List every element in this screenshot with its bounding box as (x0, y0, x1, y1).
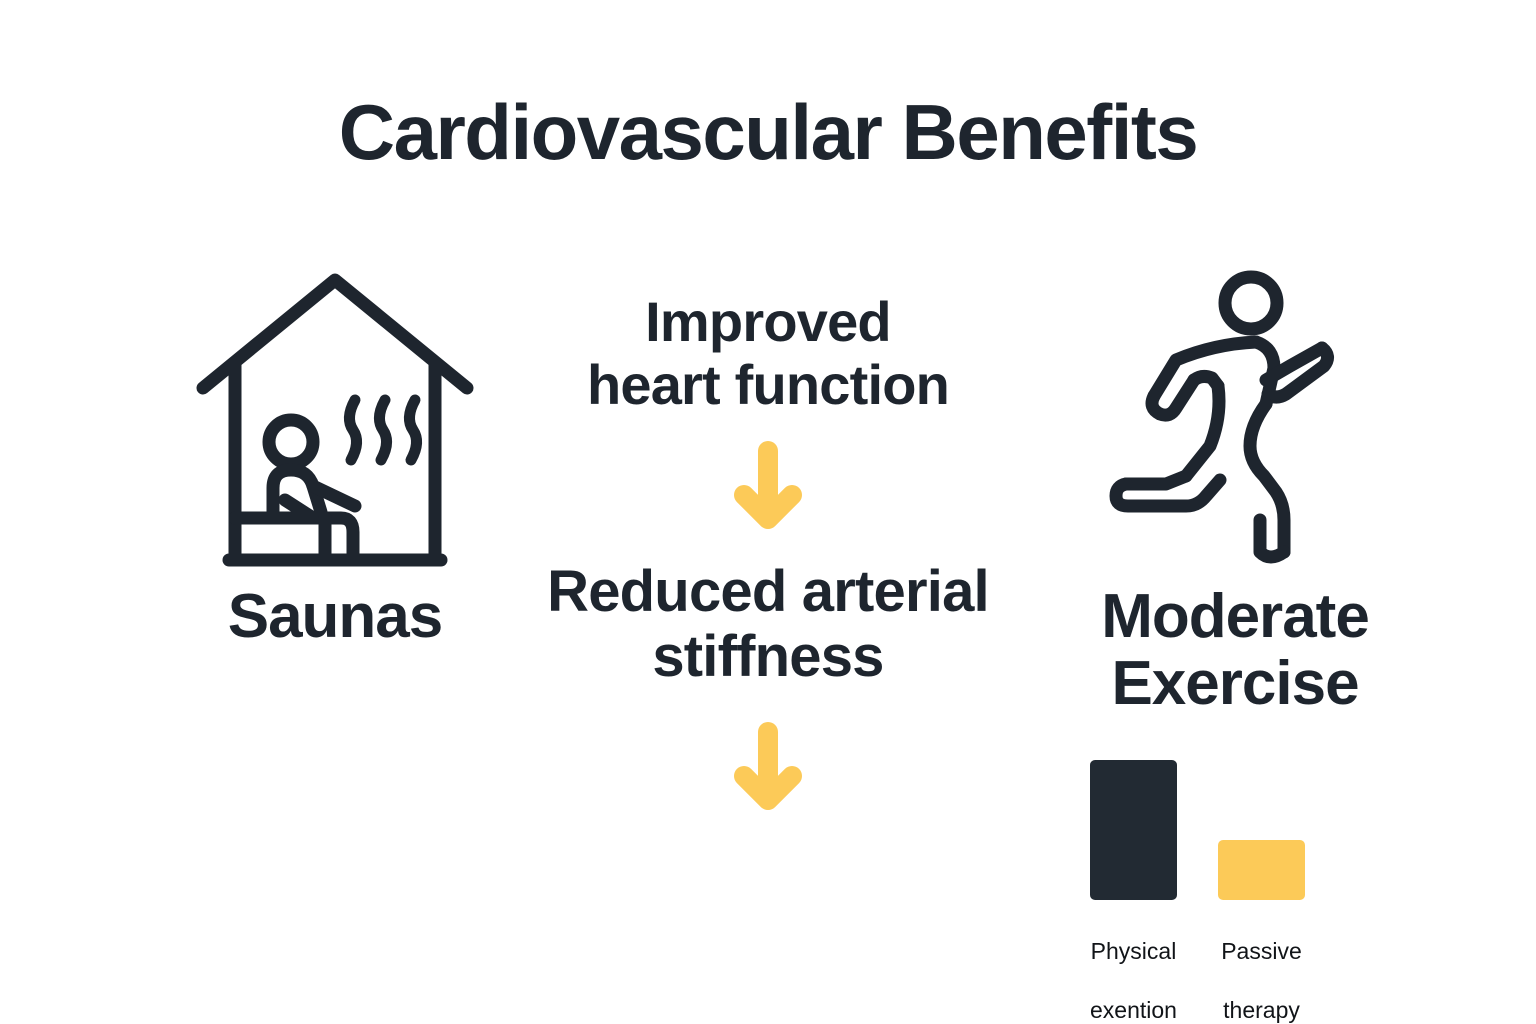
flow-step-2: Reduced arterial stiffness (528, 559, 1008, 690)
label-exercise: Moderate Exercise (1020, 584, 1450, 718)
heat-waves-icon (349, 400, 416, 460)
flow-step-1-line-1: Improved (528, 290, 1008, 353)
exercise-icon-container (1020, 250, 1450, 570)
sauna-icon-container (120, 250, 550, 570)
sauna-house-icon (195, 270, 475, 570)
legend-label-physical-exention: Physical exention (1090, 908, 1177, 1024)
column-saunas: Saunas (120, 250, 550, 651)
down-arrow-icon (733, 720, 803, 816)
label-exercise-line-2: Exercise (1020, 651, 1450, 718)
legend-label-physical-line-2: exention (1090, 996, 1177, 1024)
label-exercise-line-1: Moderate (1020, 584, 1450, 651)
legend-label-physical-line-1: Physical (1090, 937, 1177, 966)
flow-step-1-line-2: heart function (528, 353, 1008, 416)
column-flow: Improved heart function Reduced arterial… (528, 290, 1008, 816)
chart-legend: Physical exention Passive therapy (1060, 908, 1360, 1024)
down-arrow-icon (733, 439, 803, 535)
comparison-bar-chart: Physical exention Passive therapy (1060, 748, 1360, 988)
flow-step-2-line-2: stiffness (528, 624, 1008, 690)
chart-bars (1060, 748, 1360, 900)
legend-label-passive-therapy: Passive therapy (1218, 908, 1305, 1024)
arrow-2-container (528, 720, 1008, 816)
page-title: Cardiovascular Benefits (0, 92, 1536, 174)
flow-step-1: Improved heart function (528, 290, 1008, 417)
column-exercise: Moderate Exercise (1020, 250, 1450, 718)
legend-label-passive-line-1: Passive (1218, 937, 1305, 966)
legend-label-passive-line-2: therapy (1218, 996, 1305, 1024)
bar-physical-exention (1090, 760, 1177, 900)
arrow-1-container (528, 439, 1008, 535)
bar-passive-therapy (1218, 840, 1305, 900)
infographic-canvas: Cardiovascular Benefits (0, 0, 1536, 1024)
label-saunas: Saunas (120, 584, 550, 651)
running-person-icon (1110, 270, 1360, 570)
flow-step-2-line-1: Reduced arterial (528, 559, 1008, 625)
